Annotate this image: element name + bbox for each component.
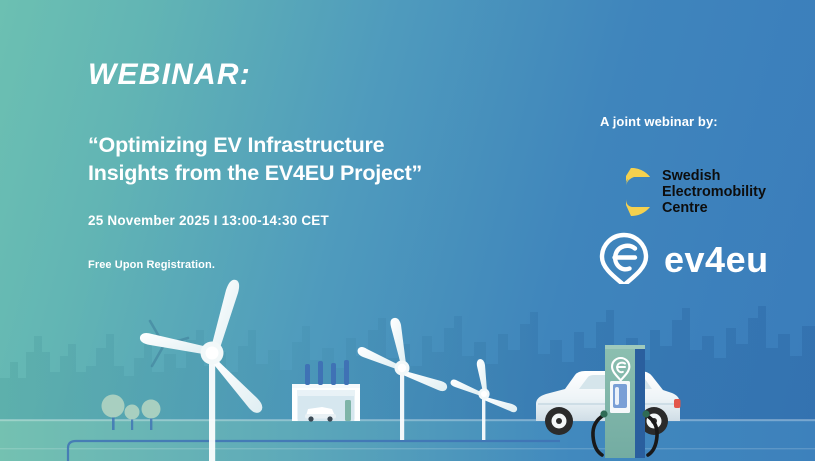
sec-logo-mark <box>607 168 650 216</box>
ev4eu-pin-icon <box>602 235 646 284</box>
sec-line-3: Centre <box>662 200 708 216</box>
registration-note: Free Upon Registration. <box>88 259 548 271</box>
swedish-electromobility-centre-logo: Swedish Electromobility Centre <box>598 163 798 221</box>
title-line-1: “Optimizing EV Infrastructure <box>88 132 548 160</box>
sec-line-1: Swedish <box>662 168 720 184</box>
ev4eu-wordmark: ev4eu <box>664 239 769 280</box>
webinar-label: WEBINAR: <box>88 60 548 90</box>
headline-block: WEBINAR: “Optimizing EV Infrastructure I… <box>88 60 548 271</box>
sec-line-2: Electromobility <box>662 184 766 200</box>
sec-logo-wordmark: Swedish Electromobility Centre <box>662 168 766 216</box>
page-title: “Optimizing EV Infrastructure Insights f… <box>88 132 548 187</box>
title-line-2: Insights from the EV4EU Project” <box>88 160 548 188</box>
ev4eu-logo: ev4eu <box>598 232 798 284</box>
event-datetime: 25 November 2025 I 13:00-14:30 CET <box>88 213 548 228</box>
joint-webinar-heading: A joint webinar by: <box>600 114 800 129</box>
webinar-poster: WEBINAR: “Optimizing EV Infrastructure I… <box>0 0 815 461</box>
